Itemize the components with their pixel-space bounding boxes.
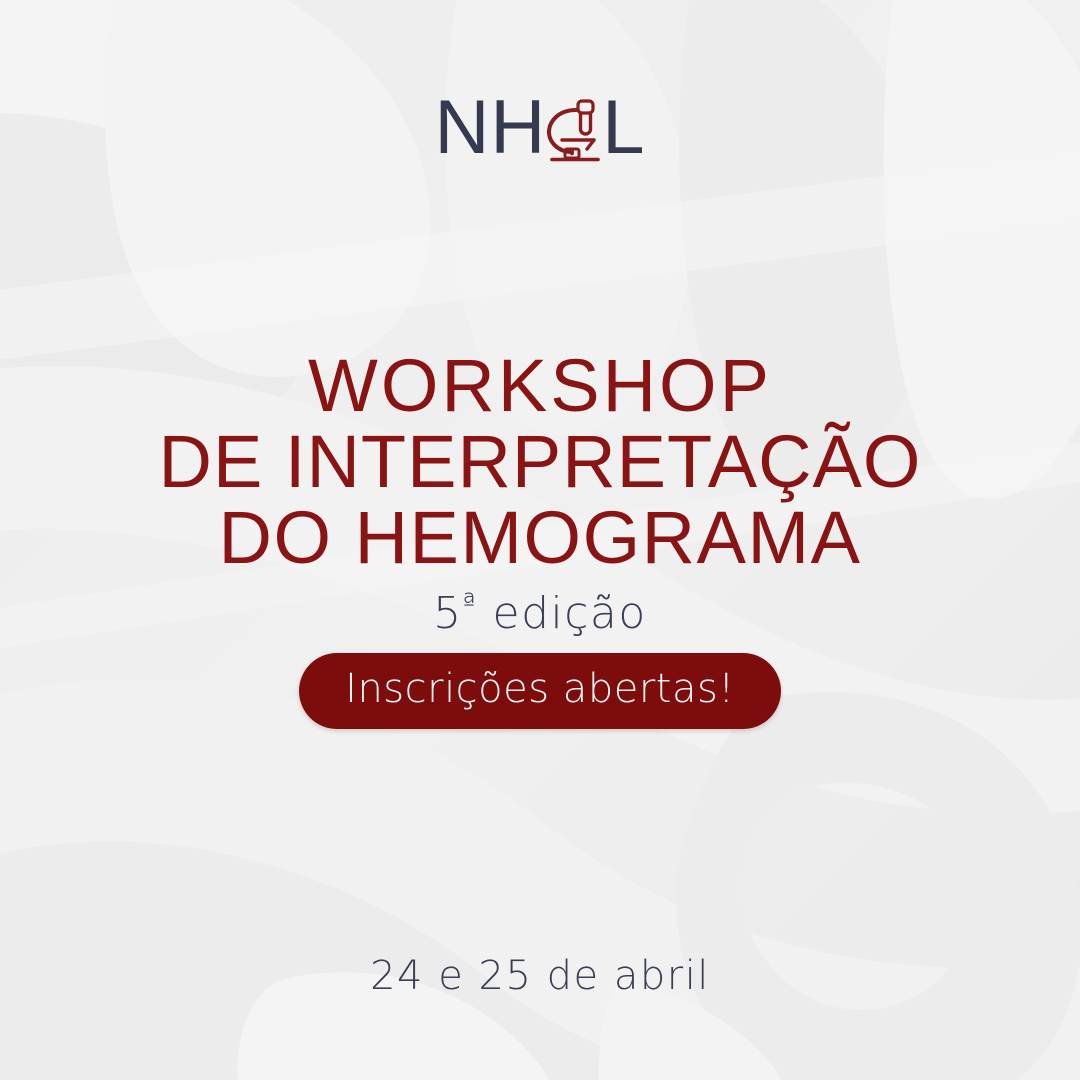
poster-canvas: N H L WORKSHOP DE INTERPRETAÇÃO xyxy=(0,0,1080,1080)
bg-blob-3 xyxy=(105,0,431,377)
edition-number: 5 xyxy=(433,588,463,639)
edition-word: edição xyxy=(493,588,647,639)
logo-letter-l: L xyxy=(602,90,645,166)
headline-line-2: DE INTERPRETAÇÃO xyxy=(0,424,1080,500)
logo-letter-h: H xyxy=(490,90,546,166)
headline-line-3: DO HEMOGRAMA xyxy=(0,500,1080,576)
registration-open-badge[interactable]: Inscrições abertas! xyxy=(299,653,781,729)
headline-line-1: WORKSHOP xyxy=(0,348,1080,424)
badge-container: Inscrições abertas! xyxy=(0,653,1080,729)
edition-ordinal-mark: ª xyxy=(463,588,477,619)
brand-logo: N H L xyxy=(0,86,1080,170)
microscope-icon xyxy=(542,97,604,165)
event-date: 24 e 25 de abril xyxy=(0,952,1080,1000)
headline-block: WORKSHOP DE INTERPRETAÇÃO DO HEMOGRAMA 5… xyxy=(0,348,1080,640)
logo-letter-n: N xyxy=(434,90,490,166)
bg-wave-2 xyxy=(0,679,1080,1080)
bg-sheen-1 xyxy=(0,140,1080,370)
edition-subtitle: 5ª edição xyxy=(0,588,1080,640)
bg-ring-1 xyxy=(676,692,1080,1080)
